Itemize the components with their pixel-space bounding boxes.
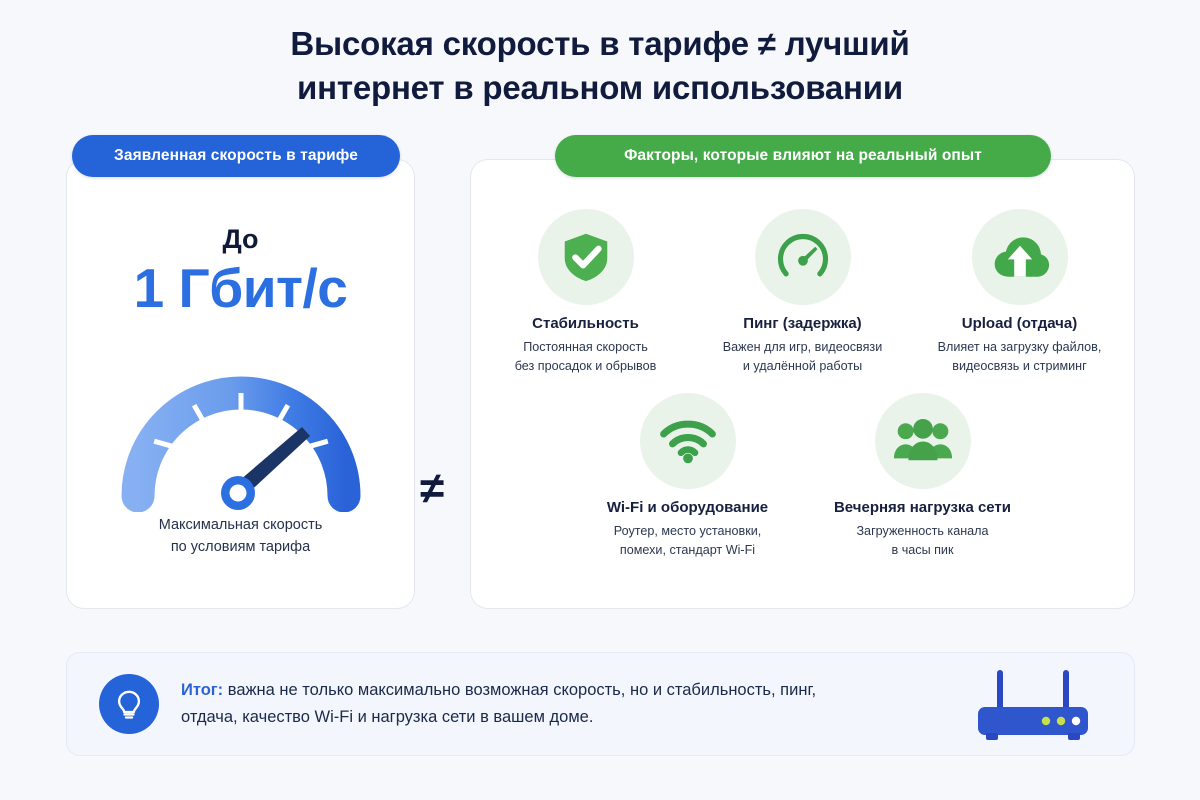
factor-desc: Важен для игр, видеосвязи и удалённой ра… [704,338,901,376]
summary-line-1: Итог: важна не только максимально возмож… [181,677,816,704]
factor-desc-line-2: помехи, стандарт Wi-Fi [589,541,786,560]
factor-ping: Пинг (задержка) Важен для игр, видеосвяз… [704,209,901,376]
speed-block: До 1 Гбит/с [67,226,414,318]
factor-desc-line-1: Постоянная скорость [487,338,684,357]
speed-prefix: До [67,226,414,253]
factor-desc-line-2: и удалённой работы [704,357,901,376]
factor-desc: Загруженность канала в часы пик [824,522,1021,560]
speed-value: 1 Гбит/с [67,259,414,318]
real-experience-badge: Факторы, которые влияют на реальный опыт [555,135,1051,177]
factors-row-bottom: Wi-Fi и оборудование Роутер, место устан… [565,393,1045,560]
factor-desc-line-1: Влияет на загрузку файлов, [921,338,1118,357]
cloud-upload-icon [972,209,1068,305]
shield-check-icon [538,209,634,305]
page-title: Высокая скорость в тарифе ≠ лучший интер… [0,0,1200,109]
wifi-router-icon [968,667,1098,745]
factor-evening-load: Вечерняя нагрузка сети Загруженность кан… [824,393,1021,560]
gauge-ping-icon [755,209,851,305]
wifi-icon [640,393,736,489]
factor-desc: Роутер, место установки, помехи, стандар… [589,522,786,560]
summary-panel: Итог: важна не только максимально возмож… [66,652,1135,756]
summary-lead: Итог: [181,681,223,699]
infographic-board: До 1 Гбит/с [0,135,1200,609]
gauge-caption-line-2: по условиям тарифа [67,537,414,559]
factor-title: Wi-Fi и оборудование [589,499,786,516]
gauge-caption-line-1: Максимальная скорость [67,515,414,537]
factor-desc-line-1: Важен для игр, видеосвязи [704,338,901,357]
gauge-caption: Максимальная скорость по условиям тарифа [67,515,414,559]
page-title-line-1: Высокая скорость в тарифе ≠ лучший [0,22,1200,66]
lightbulb-icon [99,674,159,734]
factor-desc: Постоянная скорость без просадок и обрыв… [487,338,684,376]
factor-desc-line-1: Роутер, место установки, [589,522,786,541]
summary-text: Итог: важна не только максимально возмож… [181,677,816,730]
factor-desc-line-2: в часы пик [824,541,1021,560]
factor-title: Вечерняя нагрузка сети [824,499,1021,516]
summary-line-2: отдача, качество Wi-Fi и нагрузка сети в… [181,704,816,731]
factor-stability: Стабильность Постоянная скорость без про… [487,209,684,376]
factor-upload: Upload (отдача) Влияет на загрузку файло… [921,209,1118,376]
factor-desc-line-2: видеосвязь и стриминг [921,357,1118,376]
factor-title: Стабильность [487,315,684,332]
summary-line-1-text: важна не только максимально возможная ск… [223,681,816,699]
not-equal-icon: ≠ [420,467,444,511]
factor-desc-line-1: Загруженность канала [824,522,1021,541]
users-group-icon [875,393,971,489]
factor-title: Пинг (задержка) [704,315,901,332]
factor-desc-line-2: без просадок и обрывов [487,357,684,376]
factor-title: Upload (отдача) [921,315,1118,332]
factors-row-top: Стабильность Постоянная скорость без про… [480,209,1125,376]
declared-speed-card: До 1 Гбит/с [66,159,415,609]
declared-speed-badge: Заявленная скорость в тарифе [72,135,400,177]
speedometer-gauge-icon [116,356,366,512]
factor-desc: Влияет на загрузку файлов, видеосвязь и … [921,338,1118,376]
page-title-line-2: интернет в реальном использовании [0,66,1200,110]
factor-wifi: Wi-Fi и оборудование Роутер, место устан… [589,393,786,560]
